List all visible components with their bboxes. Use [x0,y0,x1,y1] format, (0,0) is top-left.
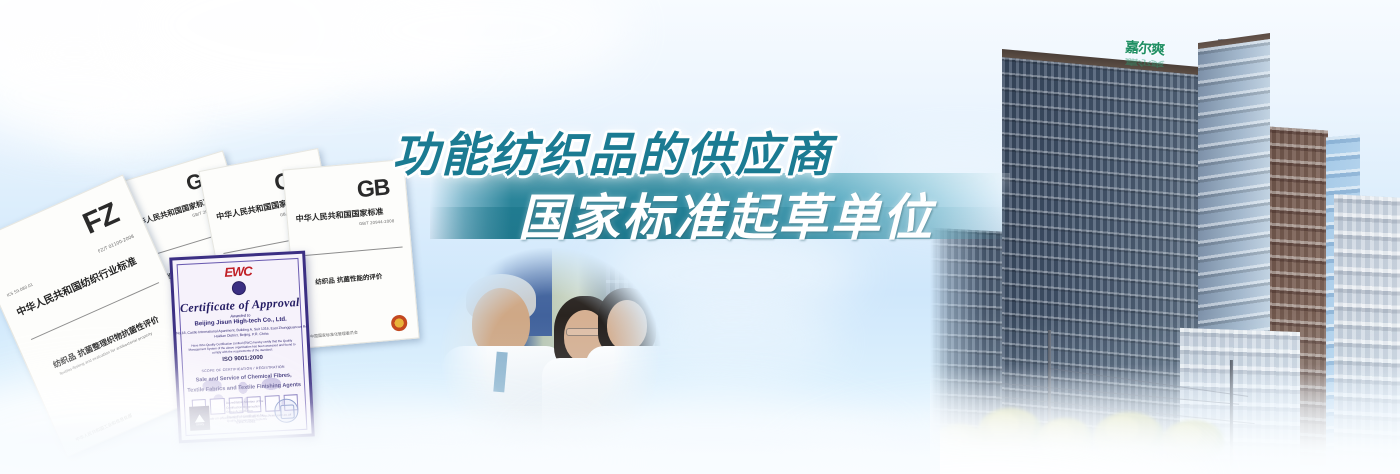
headline-group: 功能纺织品的供应商 国家标准起草单位 [0,0,1400,474]
hero-banner: 嘉尔爽 嘉尔爽 [0,0,1400,474]
headline-line-1: 功能纺织品的供应商 [392,116,833,185]
headline-line-2: 国家标准起草单位 [518,178,934,250]
